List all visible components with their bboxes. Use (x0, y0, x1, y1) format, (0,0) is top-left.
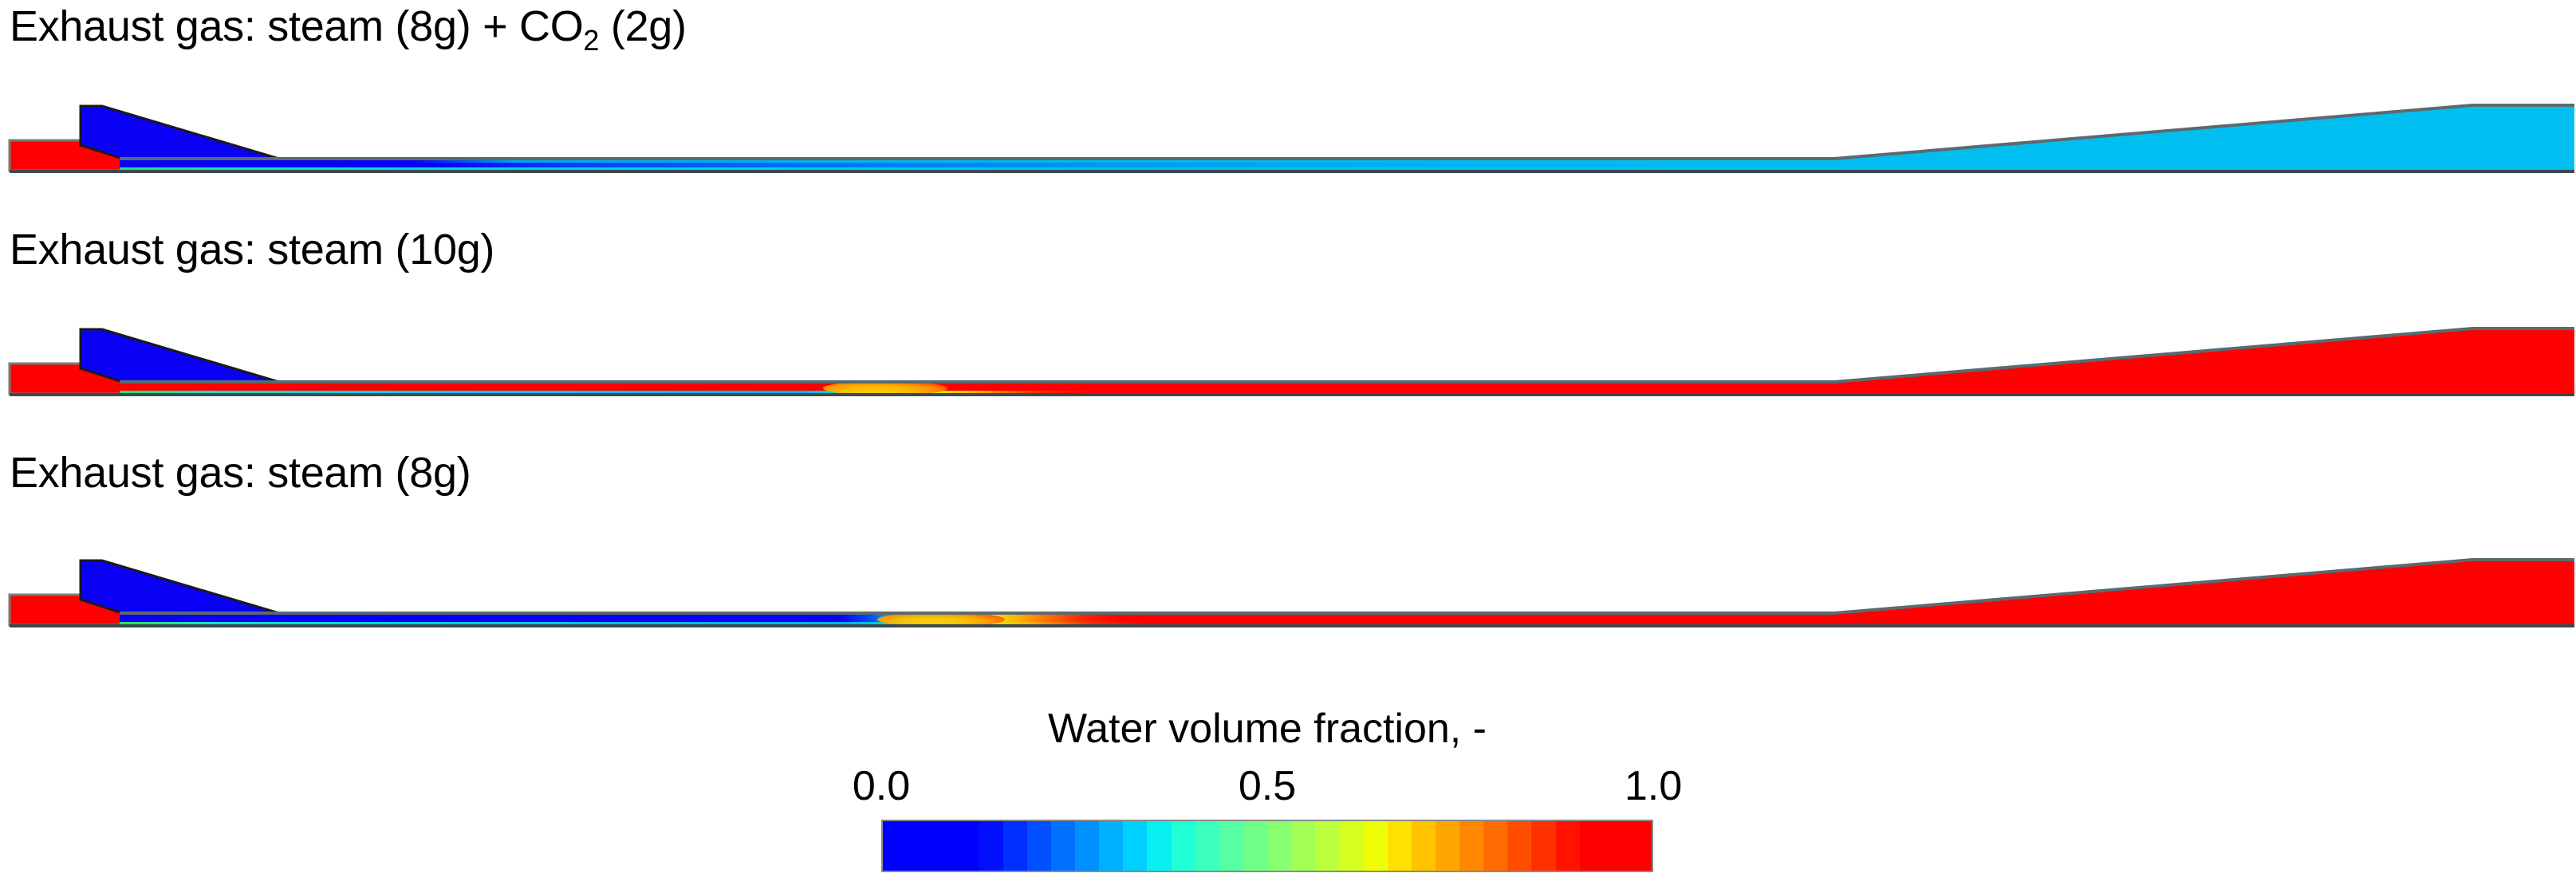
colorbar-band (931, 821, 955, 871)
panel-2-title: Exhaust gas: steam (10g) (10, 228, 494, 271)
colorbar-band (1195, 821, 1219, 871)
colorbar-band (1099, 821, 1123, 871)
colorbar-band (1291, 821, 1315, 871)
panel-3-contour-plot (0, 542, 2576, 646)
diffuser-ramp-p2 (1834, 328, 2574, 395)
panel-3-title-prefix: Exhaust gas: steam (8g) (10, 449, 471, 497)
colorbar-band (1556, 821, 1580, 871)
colorbar-band (1412, 821, 1436, 871)
colorbar-band (1604, 821, 1628, 871)
colorbar-band (1507, 821, 1531, 871)
panel-3-title: Exhaust gas: steam (8g) (10, 451, 471, 494)
panel-steam-10g: Exhaust gas: steam (10g) (0, 223, 2576, 446)
colorbar-band (883, 821, 907, 871)
colorbar-band (1628, 821, 1652, 871)
panel-2-title-prefix: Exhaust gas: steam (10g) (10, 226, 494, 273)
colorbar-band (1147, 821, 1171, 871)
colorbar-band (1339, 821, 1363, 871)
panel-steam-8g: Exhaust gas: steam (8g) (0, 446, 2576, 678)
colorbar-band (1027, 821, 1051, 871)
colorbar-band (1219, 821, 1243, 871)
colorbar-band (1267, 821, 1291, 871)
colorbar-band (1172, 821, 1195, 871)
colorbar-band (1003, 821, 1027, 871)
colorbar-band (1459, 821, 1483, 871)
panel-2-contour-plot (0, 311, 2576, 415)
panel-1-title-prefix: Exhaust gas: steam (8g) + CO (10, 2, 583, 50)
panel-1-title-suffix: (2g) (599, 2, 687, 50)
colorbar-band (1075, 821, 1099, 871)
colorbar-tick-min: 0.0 (853, 764, 910, 808)
colorbar-gradient (881, 820, 1653, 872)
colorbar-tick-mid: 0.5 (1239, 764, 1296, 808)
colorbar-band (1483, 821, 1507, 871)
colorbar-band (1051, 821, 1075, 871)
colorbar-band (1388, 821, 1412, 871)
colorbar-band (1580, 821, 1604, 871)
colorbar-title: Water volume fraction, - (881, 706, 1653, 751)
colorbar-band (1436, 821, 1459, 871)
diffuser-ramp-p3 (1834, 560, 2574, 626)
colorbar-band (1315, 821, 1339, 871)
colorbar-band (1243, 821, 1267, 871)
diffuser-ramp-p1 (1834, 105, 2574, 171)
figure-root: Exhaust gas: steam (8g) + CO2 (2g) (0, 0, 2576, 885)
colorbar-tick-max: 1.0 (1625, 764, 1682, 808)
panel-1-title: Exhaust gas: steam (8g) + CO2 (2g) (10, 5, 687, 53)
panel-1-title-subscript: 2 (583, 24, 599, 57)
colorbar-band (1364, 821, 1388, 871)
panel-steam-8g-co2-2g: Exhaust gas: steam (8g) + CO2 (2g) (0, 0, 2576, 223)
colorbar-band (907, 821, 931, 871)
colorbar-legend: Water volume fraction, - 0.0 0.5 1.0 (0, 702, 2576, 885)
panel-1-contour-plot (0, 88, 2576, 191)
colorbar-band (1531, 821, 1555, 871)
colorbar-band (955, 821, 979, 871)
colorbar-band (979, 821, 1003, 871)
colorbar-band (1123, 821, 1147, 871)
